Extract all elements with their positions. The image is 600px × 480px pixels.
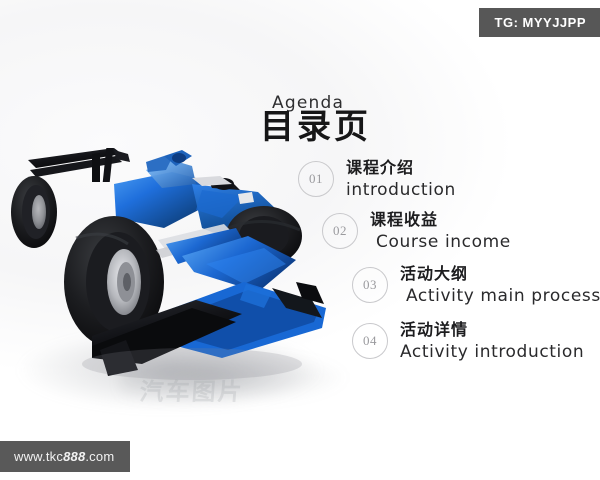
agenda-number-badge: 01	[298, 161, 334, 197]
agenda-item-title-en: introduction	[346, 179, 456, 201]
agenda-item-title-cn: 活动详情	[400, 320, 584, 340]
agenda-item-title-en: Activity main process	[406, 285, 600, 307]
website-watermark-badge: www.tkc888.com	[0, 441, 130, 472]
agenda-item-title-en: Activity introduction	[400, 341, 584, 363]
agenda-item-title-cn: 课程介绍	[346, 158, 456, 178]
agenda-item-title-cn: 课程收益	[370, 210, 511, 230]
agenda-item-title-cn: 活动大纲	[400, 264, 600, 284]
agenda-list: 01 课程介绍 introduction 02 课程收益 Course inco…	[0, 0, 600, 480]
website-prefix: www.tkc	[14, 449, 63, 464]
agenda-item-text: 课程介绍 introduction	[346, 158, 456, 201]
agenda-number-badge: 02	[322, 213, 358, 249]
agenda-item-text: 活动大纲 Activity main process	[400, 264, 600, 307]
agenda-item-text: 课程收益 Course income	[370, 210, 511, 253]
agenda-item-01[interactable]: 01 课程介绍 introduction	[298, 158, 456, 201]
agenda-item-04[interactable]: 04 活动详情 Activity introduction	[352, 320, 584, 363]
agenda-item-02[interactable]: 02 课程收益 Course income	[322, 210, 511, 253]
agenda-item-03[interactable]: 03 活动大纲 Activity main process	[352, 264, 600, 307]
website-digits: 888	[63, 449, 85, 464]
agenda-item-title-en: Course income	[376, 231, 511, 253]
telegram-watermark-badge: TG: MYYJJPP	[479, 8, 600, 37]
agenda-number-badge: 04	[352, 323, 388, 359]
agenda-number-badge: 03	[352, 267, 388, 303]
agenda-slide: 汽车图片	[0, 0, 600, 480]
website-suffix: .com	[85, 449, 114, 464]
agenda-item-text: 活动详情 Activity introduction	[400, 320, 584, 363]
